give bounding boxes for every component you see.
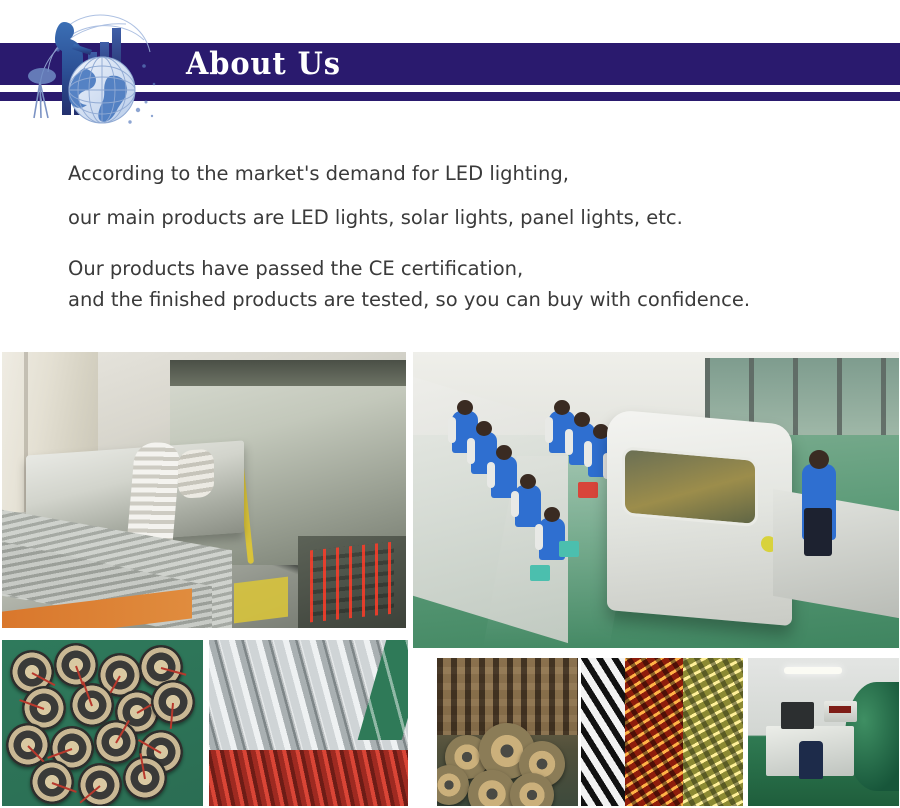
gallery-photo-led-tube-lights-bundle (209, 640, 408, 806)
gallery-photo-led-strip-samples-lit (581, 658, 743, 806)
businessman-globe-chart-logo-icon (18, 6, 168, 130)
page-title: About Us (186, 44, 341, 85)
intro-paragraph-2: Our products have passed the CE certific… (68, 253, 888, 315)
gallery-photo-led-strip-reels-green-table (2, 640, 203, 806)
intro-line: and the finished products are tested, so… (68, 284, 888, 315)
page-banner: About Us (0, 0, 900, 132)
gallery-photo-assembly-line-workers (413, 352, 899, 648)
about-us-description: According to the market's demand for LED… (68, 152, 888, 315)
gallery-photo-warehouse-reel-stock (437, 658, 578, 806)
intro-paragraph-1: According to the market's demand for LED… (68, 152, 888, 240)
about-us-page: About Us According to the market's deman… (0, 0, 900, 808)
gallery-photo-reflow-oven-smt-line (2, 352, 406, 628)
intro-line: our main products are LED lights, solar … (68, 196, 888, 240)
gallery-photo-testing-lab-equipment (748, 658, 899, 806)
intro-line: Our products have passed the CE certific… (68, 253, 888, 284)
intro-line: According to the market's demand for LED… (68, 152, 888, 196)
